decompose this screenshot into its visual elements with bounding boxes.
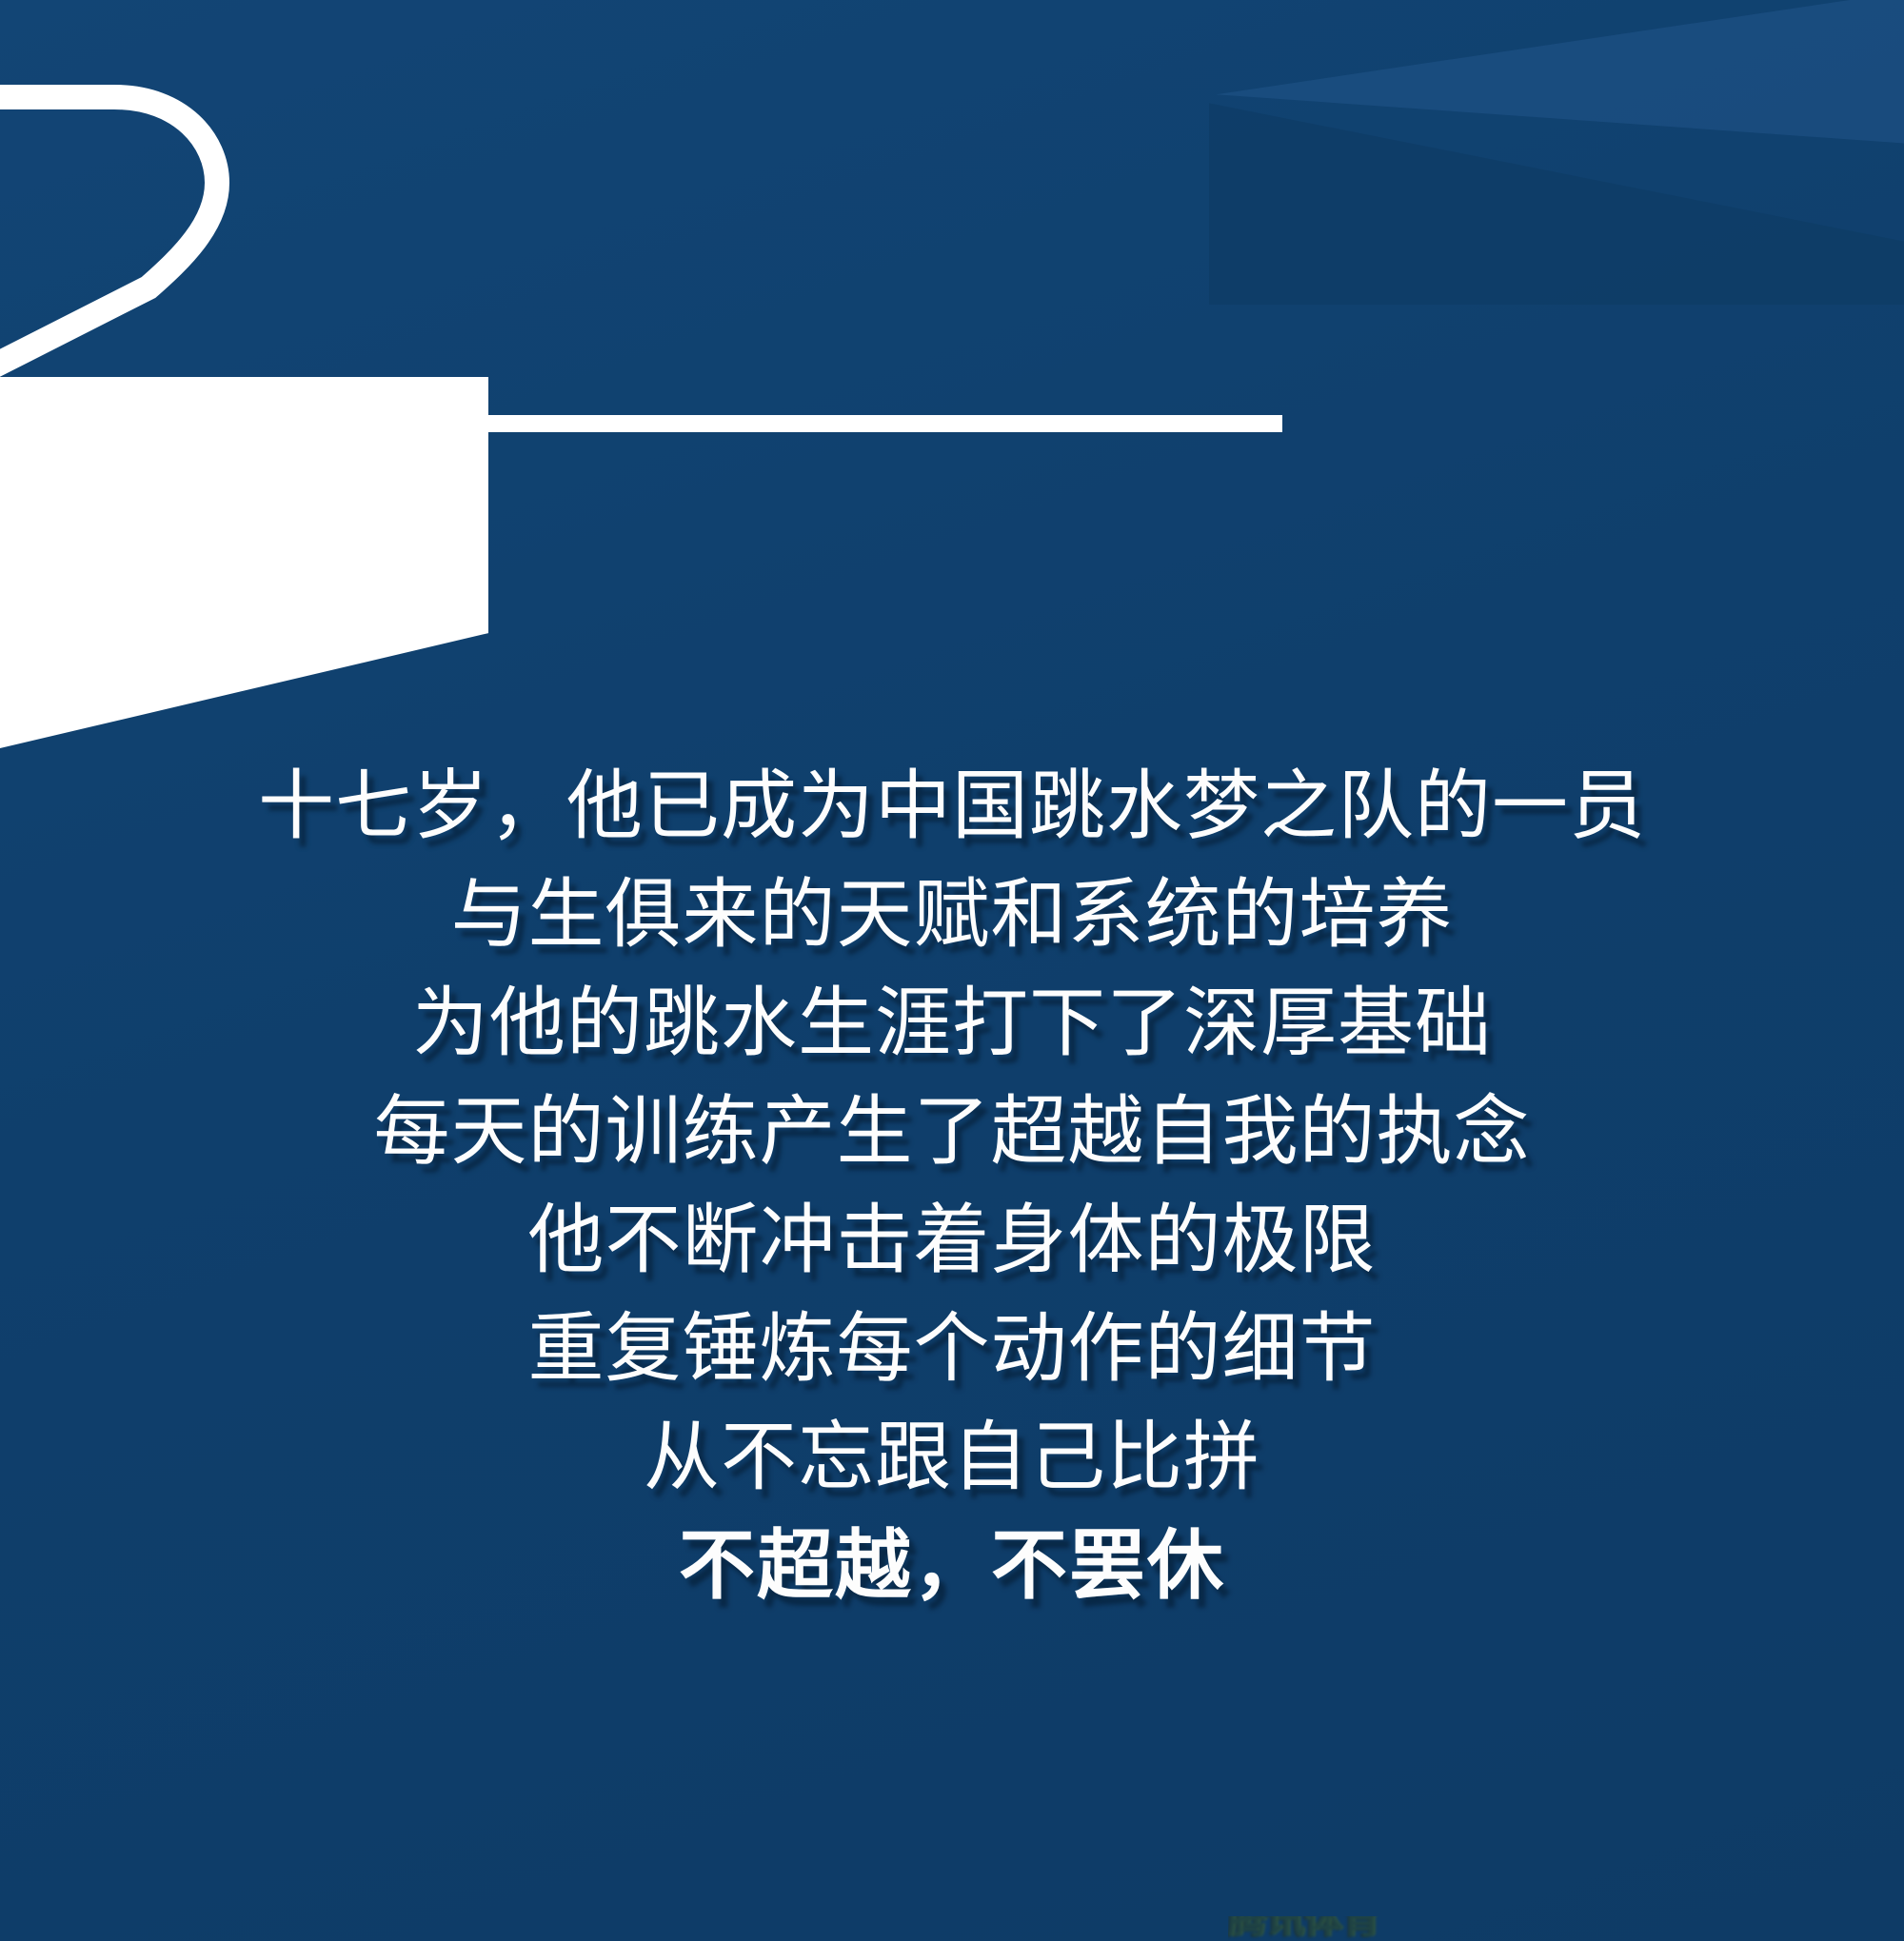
poem-line: 从不忘跟自己比拼 bbox=[0, 1403, 1904, 1512]
poem-line: 重复锤炼每个动作的细节 bbox=[0, 1295, 1904, 1403]
poem-line: 他不断冲击着身体的极限 bbox=[0, 1186, 1904, 1295]
poster-canvas: 十七岁，他已成为中国跳水梦之队的一员 与生俱来的天赋和系统的培养 为他的跳水生涯… bbox=[0, 0, 1904, 1941]
poem-line: 十七岁，他已成为中国跳水梦之队的一员 bbox=[0, 752, 1904, 861]
poem-line: 与生俱来的天赋和系统的培养 bbox=[0, 861, 1904, 969]
horizontal-rule bbox=[479, 415, 1282, 432]
poem-line: 每天的训练产生了超越自我的执念 bbox=[0, 1078, 1904, 1186]
poem-text-block: 十七岁，他已成为中国跳水梦之队的一员 与生俱来的天赋和系统的培养 为他的跳水生涯… bbox=[0, 752, 1904, 1620]
poem-line-emphasis: 不超越，不罢休 bbox=[0, 1512, 1904, 1620]
watermark: 腾讯体育 bbox=[1228, 1916, 1485, 1941]
watermark-text: 腾讯体育 bbox=[1228, 1916, 1485, 1939]
poem-line: 为他的跳水生涯打下了深厚基础 bbox=[0, 969, 1904, 1078]
